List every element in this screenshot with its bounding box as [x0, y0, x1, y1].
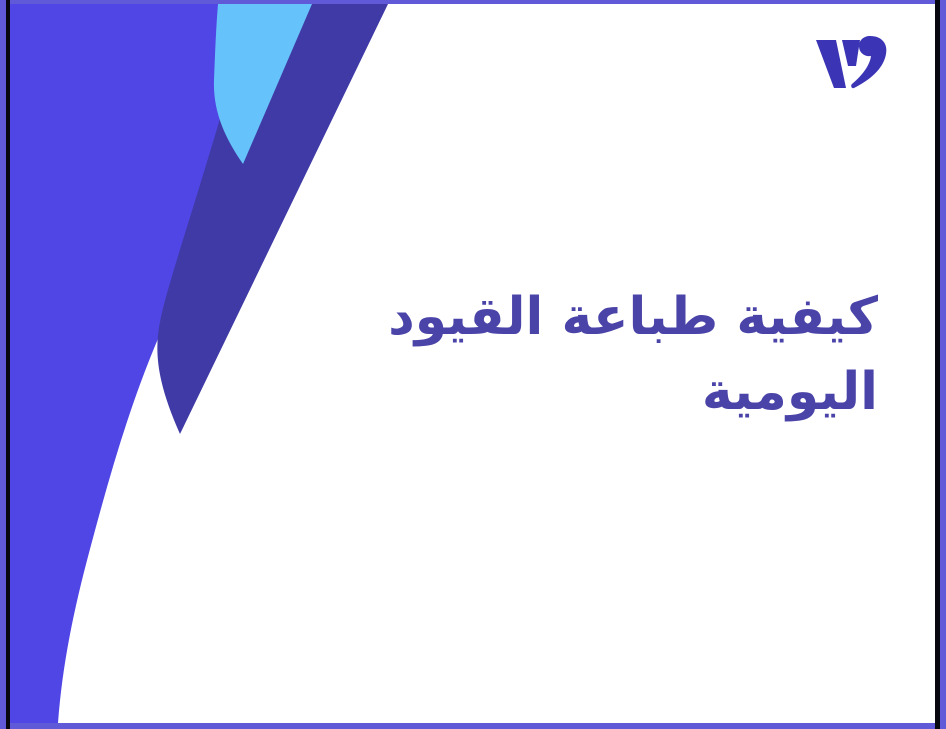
logo-stroke-middle: [842, 40, 860, 66]
page-title: كيفية طباعة القيود اليومية: [338, 280, 878, 431]
title-line-1: كيفية طباعة القيود: [338, 280, 878, 355]
slide-canvas: كيفية طباعة القيود اليومية: [10, 4, 936, 723]
title-line-2: اليومية: [338, 355, 878, 430]
frame-inner-shadow-right: [935, 0, 940, 729]
slide-frame: كيفية طباعة القيود اليومية: [0, 0, 946, 729]
w-mark-logo: [812, 32, 890, 94]
logo-stroke-left: [816, 40, 846, 88]
frame-inner-shadow-left: [6, 0, 10, 729]
